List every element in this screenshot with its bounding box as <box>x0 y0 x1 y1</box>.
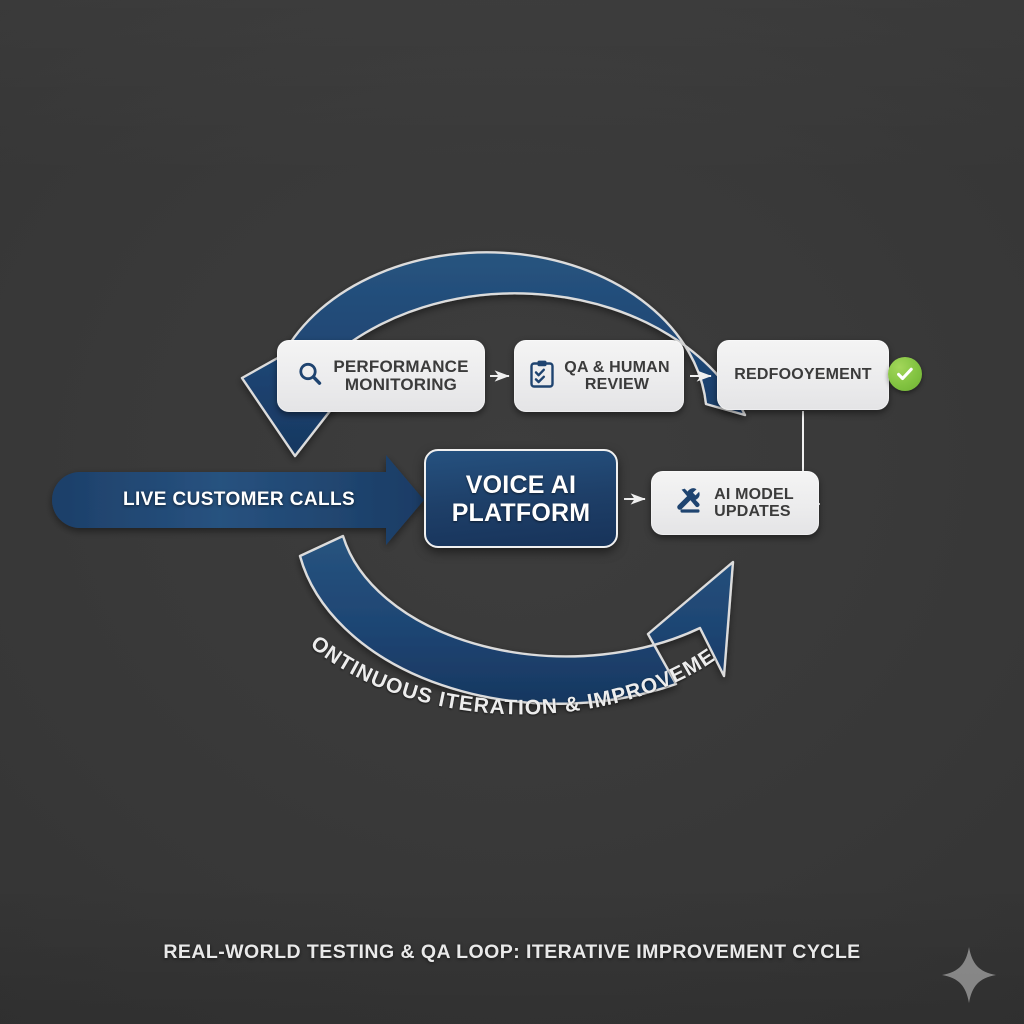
node-ai-model-updates[interactable]: AI MODEL UPDATES <box>651 471 819 535</box>
magnifier-icon <box>295 359 325 394</box>
wrench-screwdriver-icon <box>674 486 706 521</box>
clipboard-check-icon <box>528 359 556 394</box>
node-voice-ai-platform-label: VOICE AI PLATFORM <box>452 471 591 527</box>
sparkle-icon <box>941 946 997 1004</box>
node-redeployment[interactable]: REDFOOYEMENT <box>717 340 889 410</box>
node-performance-monitoring[interactable]: PERFORMANCE MONITORING <box>277 340 485 412</box>
page-caption: REAL-WORLD TESTING & QA LOOP: ITERATIVE … <box>0 941 1024 964</box>
check-icon <box>894 363 916 385</box>
node-voice-ai-platform[interactable]: VOICE AI PLATFORM <box>424 449 618 548</box>
input-banner-label: LIVE CUSTOMER CALLS <box>114 466 364 534</box>
node-performance-monitoring-label: PERFORMANCE MONITORING <box>333 358 468 395</box>
input-banner: LIVE CUSTOMER CALLS <box>74 466 422 534</box>
node-qa-human-review[interactable]: QA & HUMAN REVIEW <box>514 340 684 412</box>
node-qa-human-review-label: QA & HUMAN REVIEW <box>564 359 669 394</box>
status-badge-check <box>888 357 922 391</box>
node-ai-model-updates-label: AI MODEL UPDATES <box>714 486 794 521</box>
node-redeployment-label: REDFOOYEMENT <box>734 366 872 383</box>
diagram-canvas: CONTINUOUS ITERATION & IMPROVEMENT LIVE … <box>0 0 1024 1024</box>
